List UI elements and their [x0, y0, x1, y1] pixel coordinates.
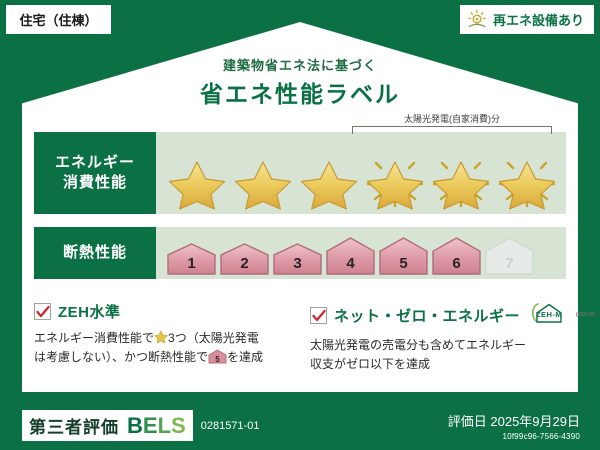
insulation-level-scale: 1234567 — [166, 236, 535, 276]
bels-logo: BELS — [127, 415, 186, 437]
zeh-star-count: 3つ — [168, 331, 187, 345]
insulation-level-value: 4 — [325, 255, 376, 272]
star-base — [298, 154, 360, 210]
criteria-netzero-title-row: ネット・ゼロ・エネルギー ZEH-M (ZEH M) — [310, 301, 562, 329]
netzero-title-label: ネット・ゼロ・エネルギー — [334, 305, 520, 326]
renewable-equipment-badge: 再エネ設備あり — [460, 5, 594, 34]
energy-performance-row: エネルギー 消費性能 太陽光発電(自家消費)分 — [34, 132, 566, 214]
energy-row-body: 太陽光発電(自家消費)分 — [156, 132, 566, 214]
building-type-tab: 住宅（住棟） — [6, 5, 111, 34]
zeh-text-d: を達成 — [227, 350, 263, 364]
energy-star-rating — [156, 154, 566, 210]
insulation-row-body: 1234567 — [156, 227, 566, 279]
criteria-netzero-description: 太陽光発電の売電分も含めてエネルギー収支がゼロ以下を達成 — [310, 336, 562, 373]
insulation-level-6: 6 — [431, 236, 482, 276]
evaluation-date-label: 評価日 — [448, 414, 487, 429]
check-icon — [312, 309, 326, 323]
netzero-checkbox[interactable] — [310, 307, 327, 324]
zeh-text-a: エネルギー消費性能で — [34, 331, 154, 345]
building-type-label: 住宅（住棟） — [19, 10, 97, 29]
star-icon — [298, 160, 360, 210]
record-id: 10f99c96-7566-4390 — [448, 432, 580, 441]
criteria-zeh-title-row: ZEH水準 — [34, 301, 286, 322]
zeh-m-logo-text: ZEH-M — [536, 310, 562, 319]
zeh-checkbox[interactable] — [34, 303, 51, 320]
insulation-performance-row: 断熱性能 1234567 — [34, 227, 566, 279]
criteria-zeh-block: ZEH水準 エネルギー消費性能で3つ（太陽光発電は考慮しない）、かつ断熱性能で5… — [34, 301, 286, 366]
label-subtitle: 建築物省エネ法に基づく — [0, 55, 600, 74]
zeh-m-logo-caption: (ZEH M) — [576, 312, 595, 318]
zeh-m-logo: ZEH-M — [528, 301, 568, 329]
bels-certificate-number: 0281571-01 — [201, 420, 260, 432]
insulation-row-heading: 断熱性能 — [34, 227, 156, 279]
bels-footer: 第三者評価 BELS 0281571-01 — [22, 410, 259, 441]
energy-heading-line1: エネルギー — [55, 153, 135, 173]
check-icon — [36, 305, 50, 319]
bels-plate: 第三者評価 BELS — [22, 410, 193, 441]
insulation-level-4: 4 — [325, 236, 376, 276]
star-solar — [496, 154, 558, 210]
inline-house-level: 5 — [208, 356, 227, 364]
star-icon — [430, 160, 492, 210]
zeh-text-b: （太陽光発電 — [187, 331, 259, 345]
sun-icon — [466, 9, 488, 31]
star-icon — [364, 160, 426, 210]
star-solar — [430, 154, 492, 210]
criteria-netzero-block: ネット・ゼロ・エネルギー ZEH-M (ZEH M) 太陽光発電の売電分も含めて… — [310, 301, 562, 373]
evaluation-date-value: 2025年9月29日 — [490, 414, 580, 429]
evaluation-date-line: 評価日 2025年9月29日 — [448, 411, 580, 430]
solar-annotation-label: 太陽光発電(自家消費)分 — [352, 112, 552, 125]
criteria-zeh-description: エネルギー消費性能で3つ（太陽光発電は考慮しない）、かつ断熱性能で5を達成 — [34, 329, 286, 366]
insulation-level-5: 5 — [378, 236, 429, 276]
insulation-level-value: 3 — [272, 255, 323, 272]
insulation-heading-label: 断熱性能 — [63, 243, 127, 263]
solar-annotation-bracket — [352, 126, 552, 134]
third-party-eval-label: 第三者評価 — [29, 413, 119, 438]
zeh-text-c: は考慮しない）、かつ断熱性能で — [34, 350, 208, 364]
insulation-level-value: 7 — [484, 255, 535, 272]
insulation-level-value: 6 — [431, 255, 482, 272]
page-title: 省エネ性能ラベル — [0, 75, 600, 109]
star-base — [232, 154, 294, 210]
inline-house-badge: 5 — [208, 349, 227, 364]
insulation-level-7: 7 — [484, 236, 535, 276]
energy-heading-line2: 消費性能 — [63, 173, 127, 193]
netzero-text-a: 太陽光発電の売電分も含めてエネルギー — [310, 338, 526, 352]
inline-star-icon — [154, 330, 168, 344]
insulation-level-value: 5 — [378, 255, 429, 272]
evaluation-date-block: 評価日 2025年9月29日 10f99c96-7566-4390 — [448, 411, 580, 441]
zeh-title-label: ZEH水準 — [58, 301, 121, 322]
insulation-level-1: 1 — [166, 242, 217, 276]
energy-row-heading: エネルギー 消費性能 — [34, 132, 156, 214]
insulation-level-value: 2 — [219, 255, 270, 272]
star-solar — [364, 154, 426, 210]
star-icon — [232, 160, 294, 210]
star-icon — [166, 160, 228, 210]
energy-performance-label: 住宅（住棟） 再エネ設備あり 建築物省エネ法に基づく 省エネ性能ラベル エネルギ… — [0, 0, 600, 450]
insulation-level-2: 2 — [219, 242, 270, 276]
netzero-text-b: 収支がゼロ以下を達成 — [310, 357, 430, 371]
insulation-level-value: 1 — [166, 255, 217, 272]
star-base — [166, 154, 228, 210]
star-icon — [496, 160, 558, 210]
renewable-badge-label: 再エネ設備あり — [493, 10, 584, 29]
insulation-level-3: 3 — [272, 242, 323, 276]
